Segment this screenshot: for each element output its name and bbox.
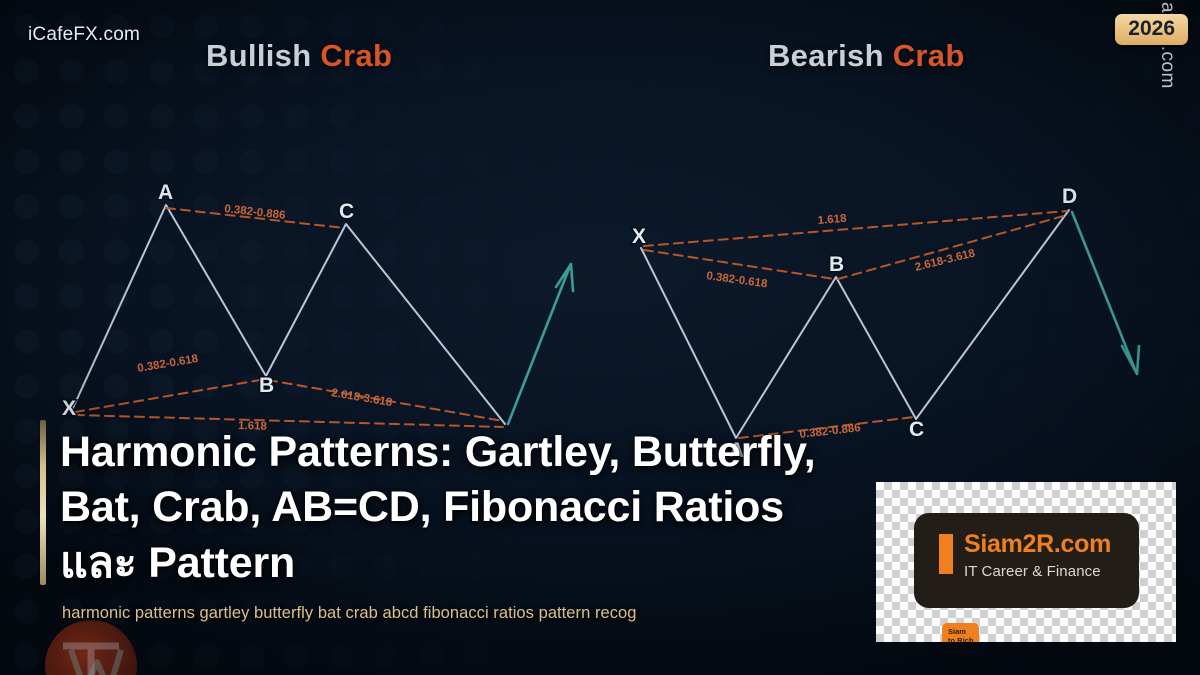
- bullish-point-label-C: C: [339, 200, 354, 223]
- logo-corner-badge: Siam to Rich: [942, 623, 979, 642]
- bearish-point-label-B: B: [829, 253, 844, 276]
- headline-accent-bar: [40, 420, 46, 585]
- year-badge: 2026: [1115, 14, 1188, 45]
- page-title: Harmonic Patterns: Gartley, Butterfly, B…: [60, 425, 850, 591]
- pattern-heading-direction: Bullish: [206, 38, 311, 73]
- bullish-leg-path: [72, 205, 505, 424]
- pattern-heading-direction: Bearish: [768, 38, 884, 73]
- logo-bar-icon: [939, 534, 953, 574]
- bearish-point-label-C: C: [909, 418, 924, 441]
- bearish-point-label-D: D: [1062, 185, 1077, 208]
- bearish-leg-path: [641, 210, 1069, 438]
- bullish-fib-label-bd: 2.618-3.618: [331, 387, 394, 409]
- bearish-point-label-X: X: [632, 225, 646, 248]
- keywords-line: harmonic patterns gartley butterfly bat …: [62, 604, 882, 623]
- site-brand-watermark: iCafeFX.com: [28, 24, 140, 46]
- bullish-fib-label-xb: 0.382-0.618: [137, 353, 200, 375]
- slide-canvas: X A B C 0.382-0.886 0.382-0.618 1.618 2.…: [0, 0, 1200, 675]
- logo-card-inner: Siam2R.com IT Career & Finance Siam to R…: [914, 513, 1139, 608]
- watermark-monogram-icon: [45, 620, 137, 675]
- bullish-point-label-B: B: [259, 374, 274, 397]
- logo-text-block: Siam2R.com IT Career & Finance: [964, 532, 1111, 580]
- pattern-heading-bullish: Bullish Crab: [206, 38, 392, 74]
- bullish-crab-pattern: X A B C 0.382-0.886 0.382-0.618 1.618 2.…: [62, 181, 573, 433]
- bearish-crab-pattern: X A B C D 1.618 0.382-0.618 2.618-3.618 …: [632, 185, 1139, 462]
- bearish-fib-label-bd: 2.618-3.618: [914, 247, 977, 274]
- pattern-heading-bearish: Bearish Crab: [768, 38, 965, 74]
- bullish-fib-line-xb: [75, 379, 266, 412]
- pattern-heading-kind: Crab: [320, 38, 392, 73]
- bearish-fib-line-bd: [838, 215, 1067, 279]
- logo-lockup: Siam2R.com IT Career & Finance: [939, 532, 1111, 580]
- circular-watermark-logo: [45, 620, 137, 675]
- logo-tagline: IT Career & Finance: [964, 563, 1111, 580]
- pattern-heading-kind: Crab: [893, 38, 965, 73]
- bullish-point-label-A: A: [158, 181, 173, 204]
- bearish-fib-label-xb: 0.382-0.618: [706, 270, 769, 291]
- logo-name: Siam2R.com: [964, 532, 1111, 557]
- bearish-direction-arrow: [1072, 212, 1136, 372]
- logo-card[interactable]: Siam2R.com IT Career & Finance Siam to R…: [876, 482, 1176, 642]
- bearish-arrow-head: [1122, 346, 1139, 374]
- bullish-direction-arrow: [508, 266, 570, 424]
- bearish-fib-line-xd: [644, 211, 1067, 246]
- bearish-fib-label-xd: 1.618: [817, 213, 847, 227]
- bullish-fib-label-ac: 0.382-0.886: [224, 203, 286, 222]
- bullish-point-label-X: X: [62, 397, 76, 420]
